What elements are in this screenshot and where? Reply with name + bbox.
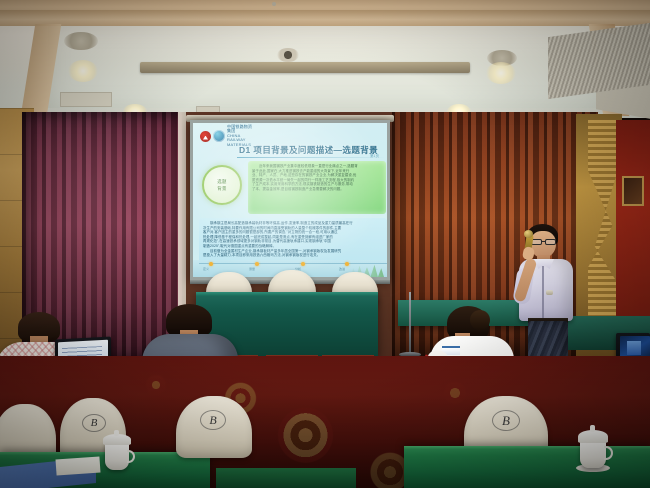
monogram-letter: B	[91, 417, 98, 429]
teacup-right-body	[580, 440, 606, 468]
badge-line-2: 背景	[217, 186, 226, 192]
glasses-icon-bridge	[541, 241, 545, 242]
ceiling	[0, 0, 650, 118]
slide-green-textblock: 近年来我国钢铁产业集中度较低现象一直是行业痛点之一,选题背 景于此此,国家在,大…	[248, 161, 386, 214]
conference-room-photo: 中国铁路物资集团 CHINA RAILWAY MATERIALS D1 项目背景…	[0, 0, 650, 488]
paper-foreground-left	[55, 456, 100, 475]
ceiling-light-slot	[140, 62, 470, 73]
microphone-icon-head	[524, 230, 533, 238]
glasses-icon-right-lens	[545, 239, 556, 245]
ceiling-downlight-off-1	[64, 32, 98, 50]
ceiling-downlight-on-2	[486, 62, 516, 84]
presenter-shirt-placket	[542, 266, 544, 318]
footer-step-dot-3	[301, 262, 305, 266]
table-foreground-right	[404, 446, 650, 488]
presentation-slide: 中国铁路物资集团 CHINA RAILWAY MATERIALS D1 项目背景…	[193, 123, 387, 277]
monogram-letter: B	[502, 413, 510, 429]
triangle-logo-icon	[200, 131, 211, 142]
footer-step-label-4: 改进	[339, 267, 345, 271]
footer-step-label-1: 定义	[203, 267, 209, 271]
slide-topic-badge: 选题 背景	[202, 165, 242, 205]
projector-screen: 中国铁路物资集团 CHINA RAILWAY MATERIALS D1 项目背景…	[190, 120, 390, 280]
green-line: 了本、提高金效率,是目前钢铁制造产业急需要解决的问题。	[252, 187, 382, 192]
attendee-right-hair-bun	[470, 310, 490, 330]
badge-line-1: 选题	[217, 179, 226, 185]
blue-line: 是投入了大量精力,本项目即采用铁造六西格玛方法,对钢承钢版权进行攻关。	[203, 253, 383, 258]
footer-step-dot-2	[255, 262, 259, 266]
slide-title-underline	[237, 157, 385, 158]
teacup-right-knob	[590, 425, 595, 432]
table-foreground-left-secondary	[216, 468, 356, 488]
ceiling-spot-center	[277, 48, 299, 62]
ceiling-vent-left	[60, 92, 112, 107]
ceiling-wood-band	[0, 10, 650, 26]
footer-step-dot-4	[345, 262, 349, 266]
framed-picture	[622, 176, 644, 206]
laptop-right-window	[627, 341, 641, 355]
footer-rule	[199, 263, 387, 264]
microphone-stand	[409, 292, 411, 354]
teacup-left-body	[105, 442, 129, 470]
footer-step-label-2: 测量	[249, 267, 255, 271]
teacup-left-knob	[114, 430, 119, 436]
ceiling-downlight-on-1	[68, 60, 98, 82]
slide-title: D1 项目背景及问题描述—选题背景	[239, 144, 378, 156]
chair-monogram-fg-left-1: B	[82, 414, 106, 432]
slide-blue-textblock: 钢承钢主是局长高配造钢承装轨材非等环保高,运作,变速率,制造立的成品及重力量质最…	[199, 218, 387, 264]
chair-monogram-fg-right-2: B	[200, 410, 226, 430]
monogram-letter: B	[209, 413, 216, 428]
ceiling-sensor-1	[272, 2, 276, 6]
globe-icon	[213, 130, 225, 142]
wristwatch-icon	[546, 290, 553, 295]
footer-step-dot-1	[209, 262, 213, 266]
slide-logo: 中国铁路物资集团 CHINA RAILWAY MATERIALS	[200, 130, 254, 142]
chair-monogram-fg-right-1: B	[492, 410, 520, 431]
slide-page-number: 第1页	[370, 154, 379, 159]
